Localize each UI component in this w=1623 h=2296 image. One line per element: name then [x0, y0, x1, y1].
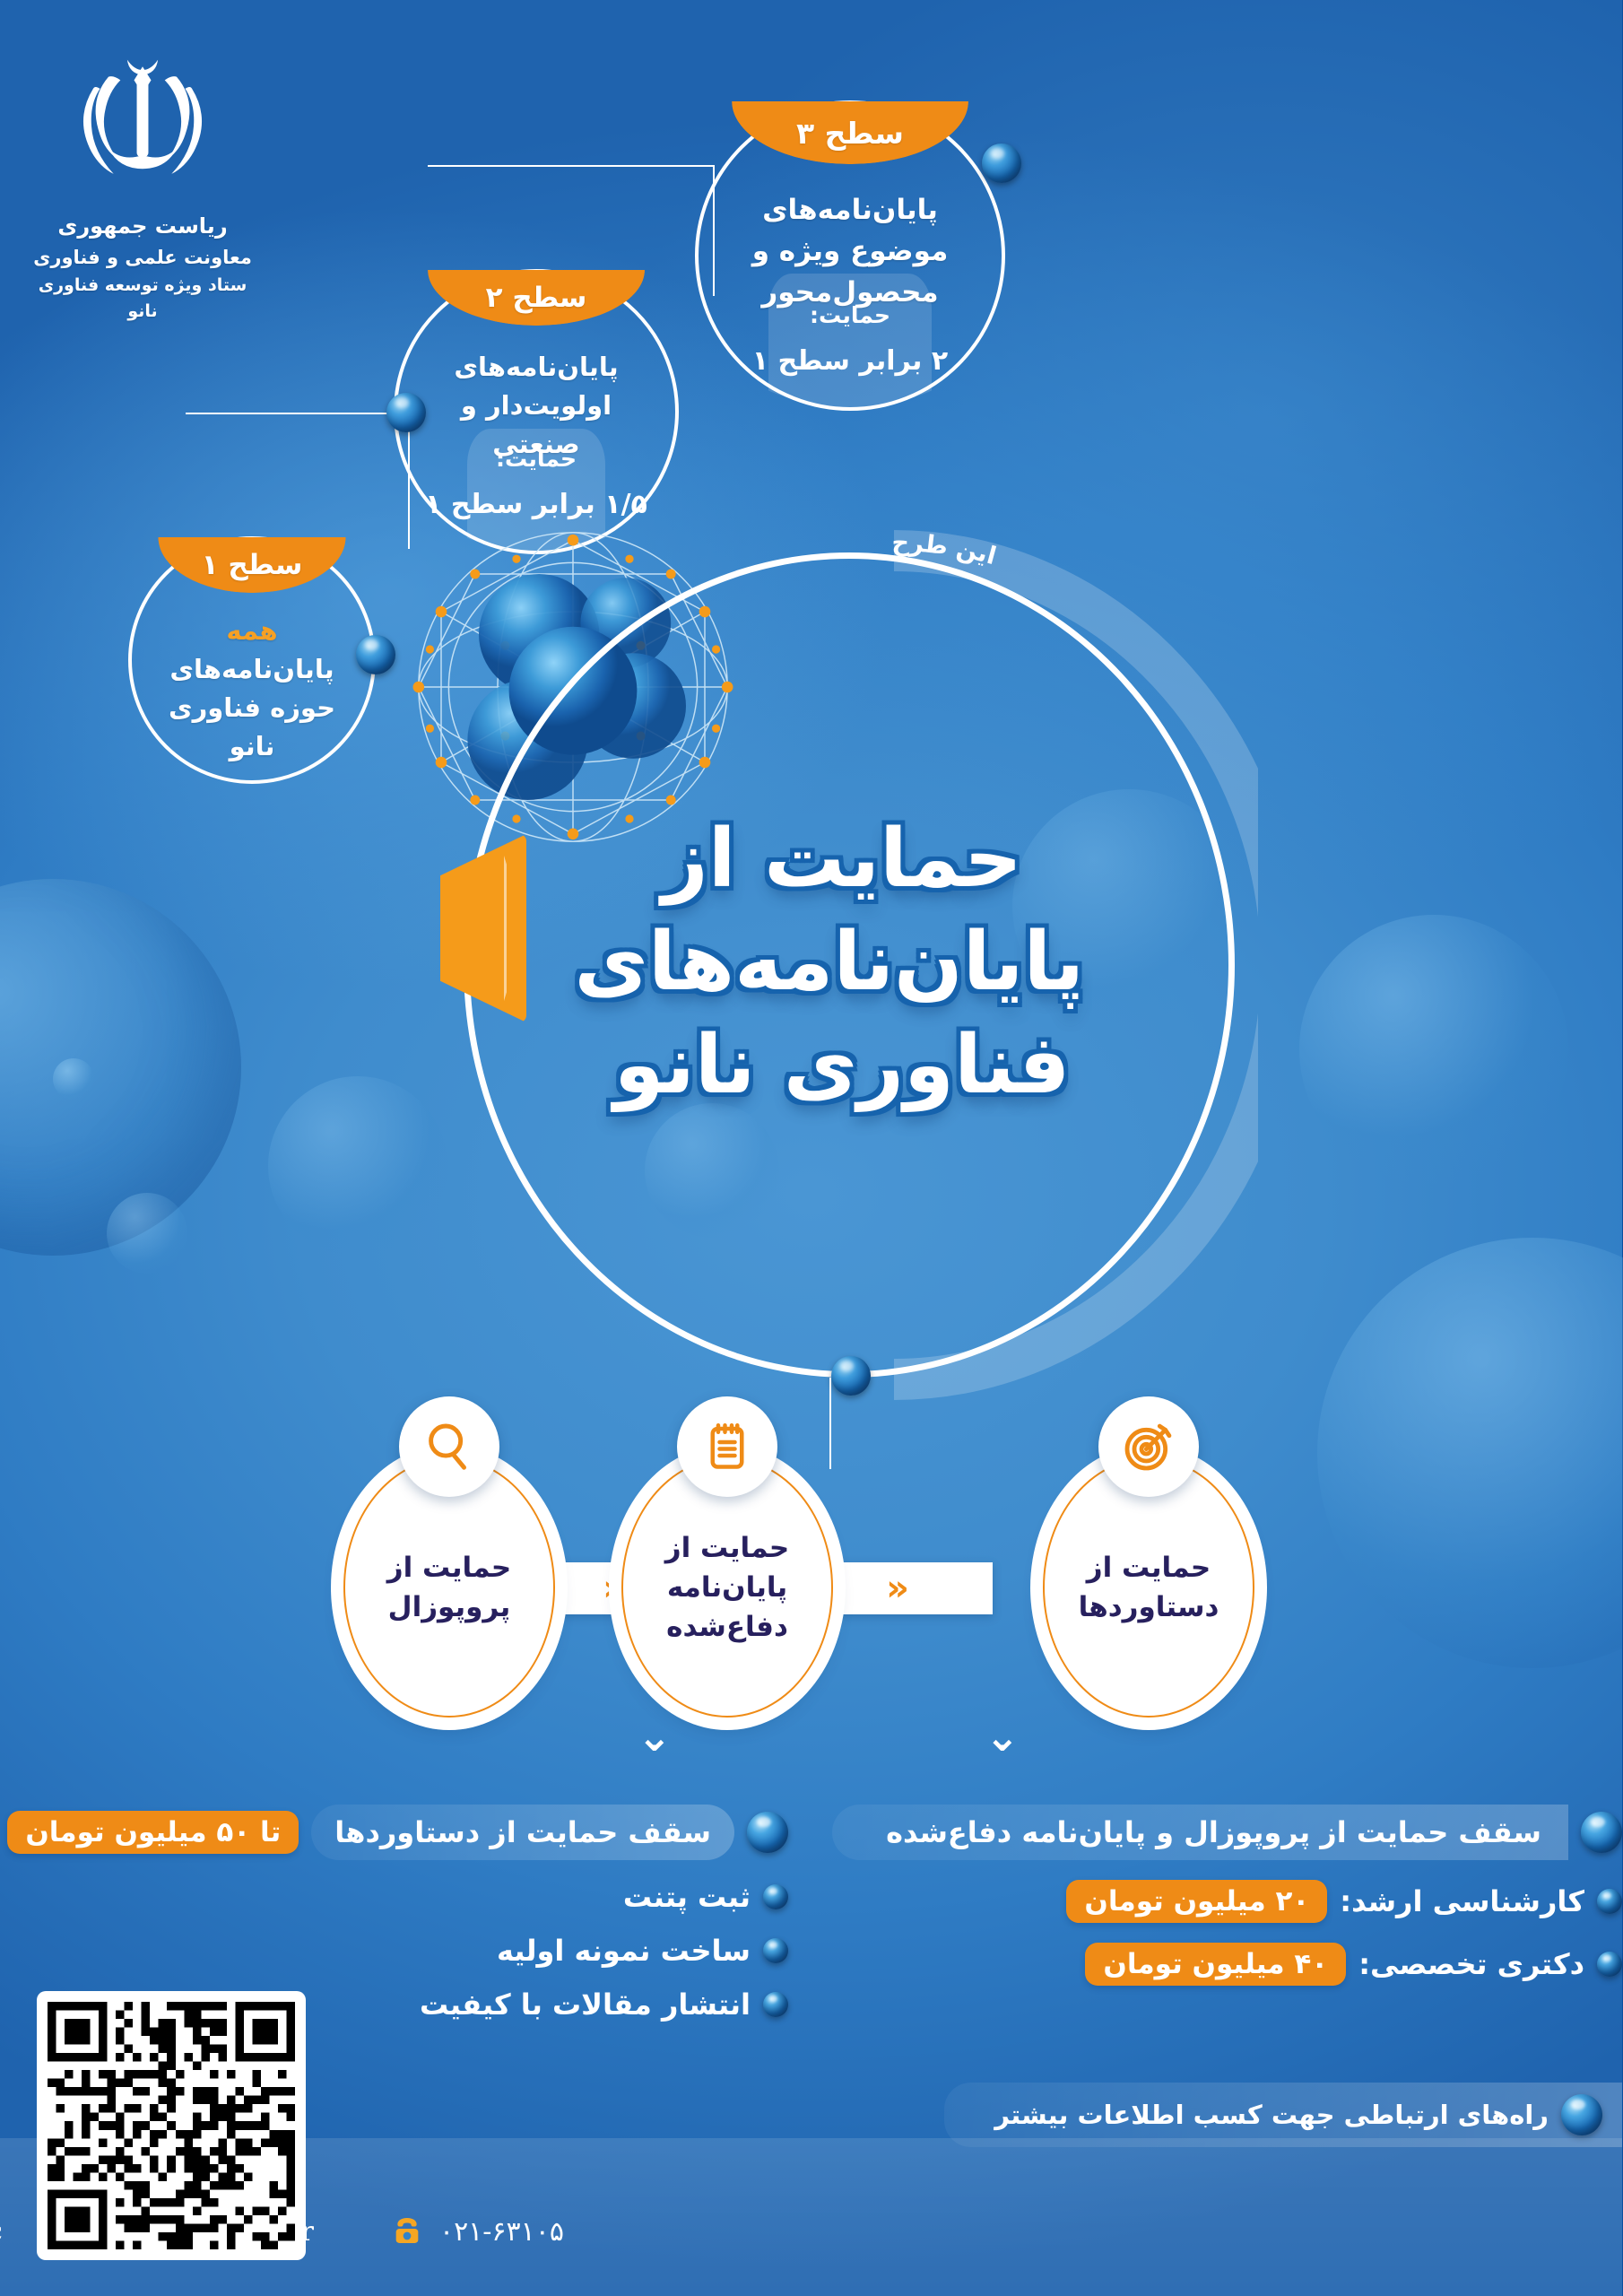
support-proposal-item: کارشناسی ارشد: ۲۰ میلیون تومان [789, 1880, 1623, 1923]
qr-code-matrix [48, 2002, 296, 2249]
level-1-badge: سطح ۱ [159, 537, 346, 593]
bullet-orb-icon [764, 1938, 789, 1963]
stage-achievements-label: حمایت از دستاوردها [1046, 1548, 1254, 1627]
level2-to-level1-connector [187, 413, 411, 414]
support-phd-amount: ۴۰ میلیون تومان [1086, 1943, 1347, 1986]
stage-connector-chevron: « [887, 1570, 910, 1606]
level-2-node [387, 393, 427, 432]
achievement-prototype-label: ساخت نمونه اولیه [498, 1934, 751, 1968]
bullet-orb-icon [764, 1992, 789, 2017]
ring-to-stage-connector [830, 1378, 832, 1469]
organization-name-lines: ریاست جمهوری معاونت علمی و فناوری ستاد و… [27, 210, 260, 326]
level-3-circle[interactable]: سطح ۳ پایان‌نامه‌های موضوع ویژه و محصول‌… [696, 100, 1006, 411]
support-masters-label: کارشناسی ارشد: [1341, 1884, 1585, 1918]
contact-phone[interactable]: ۰۲۱-۶۳۱۰۵ [390, 2213, 565, 2249]
background-bubble [1318, 1238, 1623, 1668]
support-achievements-section: سقف حمایت از دستاوردها تا ۵۰ میلیون توما… [0, 1805, 789, 2022]
down-chevron-icon: ⌄ [985, 1720, 1020, 1753]
level-3-badge: سطح ۳ [733, 101, 969, 164]
qr-code-icon[interactable] [38, 1991, 307, 2260]
achievement-item: ساخت نمونه اولیه [0, 1934, 789, 1968]
stage-proposal-label: حمایت از پروپوزال [346, 1548, 554, 1627]
footer-heading: راه‌های ارتباطی جهت کسب اطلاعات بیشتر [995, 2100, 1549, 2130]
stage-defended-thesis[interactable]: حمایت از پایان‌نامه دفاع‌شده [622, 1457, 834, 1718]
level3-to-level2-connector [429, 165, 716, 167]
page-title-line-1: حمایت از [601, 807, 1085, 910]
target-icon [1099, 1396, 1200, 1497]
support-proposal-header: سقف حمایت از پروپوزال و پایان‌نامه دفاع‌… [789, 1805, 1623, 1860]
clipboard-icon [678, 1396, 778, 1497]
page-title-line-3: فناوری نانو [601, 1013, 1085, 1117]
poster-canvas: ریاست جمهوری معاونت علمی و فناوری ستاد و… [0, 0, 1623, 2296]
background-bubble [108, 1193, 188, 1274]
level-1-title-rest: پایان‌نامه‌های حوزه فناوری نانو [169, 654, 336, 761]
ring-bottom-node [832, 1356, 872, 1396]
magnifier-icon [400, 1396, 500, 1497]
support-achievements-cap: تا ۵۰ میلیون تومان [8, 1811, 299, 1854]
achievement-item: ثبت پتنت [0, 1880, 789, 1914]
phone-number: ۰۲۱-۶۳۱۰۵ [440, 2216, 565, 2248]
org-line-1: ریاست جمهوری [27, 210, 260, 243]
stage-defended-thesis-label: حمایت از پایان‌نامه دفاع‌شده [624, 1528, 832, 1647]
bullet-orb-icon [1598, 1952, 1623, 1977]
stage-proposal[interactable]: حمایت از پروپوزال [344, 1457, 556, 1718]
level-3-support-label: حمایت: [699, 302, 1002, 328]
support-proposal-item: دکتری تخصصی: ۴۰ میلیون تومان [789, 1943, 1623, 1986]
level-2-badge: سطح ۲ [429, 270, 646, 326]
background-bubble [54, 1058, 95, 1100]
org-line-3: ستاد ویژه توسعه فناوری نانو [27, 273, 260, 326]
bullet-orb-icon [748, 1812, 789, 1853]
contact-website[interactable]: www.nano.ir/hrdc [0, 2213, 4, 2249]
support-masters-amount: ۲۰ میلیون تومان [1067, 1880, 1328, 1923]
bullet-orb-icon [764, 1884, 789, 1909]
background-bubble [269, 1076, 448, 1256]
level-3-support-panel [699, 274, 1002, 407]
support-achievements-heading: سقف حمایت از دستاوردها [312, 1805, 735, 1860]
level-3-node [983, 143, 1022, 183]
achievement-articles-label: انتشار مقالات با کیفیت [421, 1987, 751, 2022]
bullet-orb-icon [1562, 2094, 1603, 2135]
support-proposal-heading: سقف حمایت از پروپوزال و پایان‌نامه دفاع‌… [833, 1805, 1569, 1860]
org-line-2: معاونت علمی و فناوری [27, 243, 260, 273]
website-url: www.nano.ir/hrdc [0, 2216, 4, 2248]
background-bubble [0, 879, 242, 1256]
background-bubble [1300, 915, 1569, 1184]
level-1-title: همه پایان‌نامه‌های حوزه فناوری نانو [133, 612, 373, 766]
support-achievements-header: سقف حمایت از دستاوردها تا ۵۰ میلیون توما… [0, 1805, 789, 1860]
down-chevron-icon: ⌄ [638, 1720, 673, 1753]
page-title-line-2: پایان‌نامه‌های [601, 910, 1085, 1013]
support-proposal-section: سقف حمایت از پروپوزال و پایان‌نامه دفاع‌… [789, 1805, 1623, 1986]
level-3-support-value: ۲ برابر سطح ۱ [699, 345, 1002, 377]
level-1-title-highlight: همه [227, 615, 278, 646]
bullet-orb-icon [1582, 1812, 1623, 1853]
iran-emblem-icon [58, 36, 229, 206]
bullet-orb-icon [1598, 1889, 1623, 1914]
organization-logo: ریاست جمهوری معاونت علمی و فناوری ستاد و… [27, 36, 260, 326]
page-title: حمایت از پایان‌نامه‌های فناوری نانو [601, 807, 1085, 1118]
stage-achievements[interactable]: حمایت از دستاوردها [1044, 1457, 1255, 1718]
level-1-circle[interactable]: سطح ۱ همه پایان‌نامه‌های حوزه فناوری نان… [129, 536, 377, 784]
support-phd-label: دکتری تخصصی: [1359, 1947, 1585, 1981]
achievement-patent-label: ثبت پتنت [624, 1880, 751, 1914]
level-2-support-label: حمایت: [398, 446, 676, 472]
telephone-icon [390, 2213, 426, 2249]
